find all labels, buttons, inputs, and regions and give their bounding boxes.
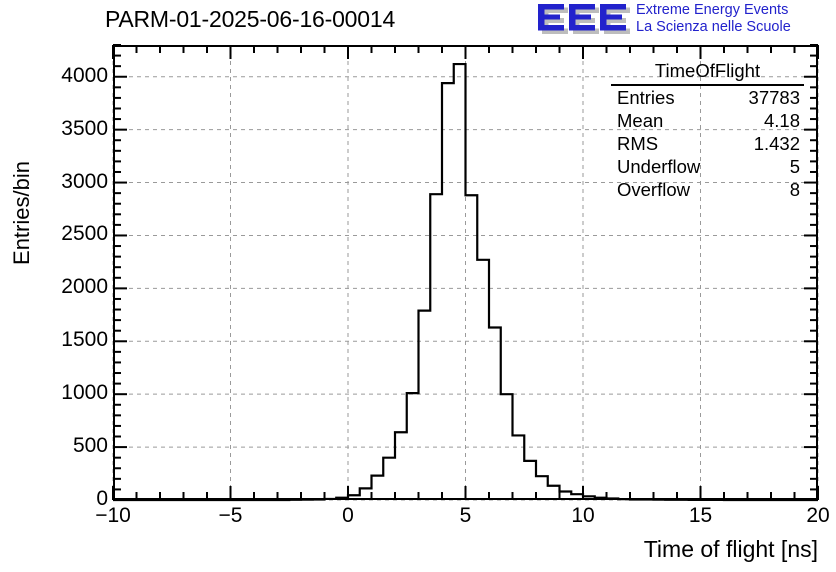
stats-row: Mean4.18 [611,109,804,132]
y-tick-label: 4000 [8,64,108,88]
stats-box-rows: Entries37783Mean4.18RMS1.432Underflow5Ov… [611,86,804,201]
eee-logo-line2: La Scienza nelle Scuole [636,19,791,36]
x-tick-label: 20 [778,504,836,528]
stats-row-key: Mean [617,110,663,131]
y-tick-label: 1500 [8,328,108,352]
stats-row-value: 4.18 [764,110,800,131]
y-axis-title: Entries/bin [9,113,35,313]
x-axis-title: Time of flight [ns] [518,536,818,563]
y-tick-label: 1000 [8,381,108,405]
stats-row: RMS1.432 [611,132,804,155]
eee-mark-icon [536,3,632,35]
stats-box: TimeOfFlight Entries37783Mean4.18RMS1.43… [611,60,804,201]
x-tick-label: −5 [191,504,271,528]
stats-row-key: RMS [617,133,658,154]
y-tick-label: 500 [8,434,108,458]
x-tick-label: 5 [426,504,506,528]
eee-logo: Extreme Energy Events La Scienza nelle S… [536,2,836,38]
stats-row-value: 5 [790,156,800,177]
stats-row: Underflow5 [611,155,804,178]
stats-row-value: 1.432 [754,133,800,154]
eee-logo-line1: Extreme Energy Events [636,2,791,19]
x-tick-label: −10 [73,504,153,528]
stats-row: Entries37783 [611,86,804,109]
chart-canvas: PARM-01-2025-06-16-00014 Extreme Energy … [0,0,836,572]
stats-row-key: Underflow [617,156,700,177]
eee-logo-text: Extreme Energy Events La Scienza nelle S… [636,2,791,36]
stats-row: Overflow8 [611,178,804,201]
stats-box-title: TimeOfFlight [611,60,804,86]
x-tick-label: 10 [543,504,623,528]
x-tick-label: 15 [661,504,741,528]
stats-row-key: Overflow [617,179,690,200]
stats-row-value: 8 [790,179,800,200]
x-tick-label: 0 [308,504,388,528]
stats-row-key: Entries [617,87,675,108]
stats-row-value: 37783 [749,87,800,108]
